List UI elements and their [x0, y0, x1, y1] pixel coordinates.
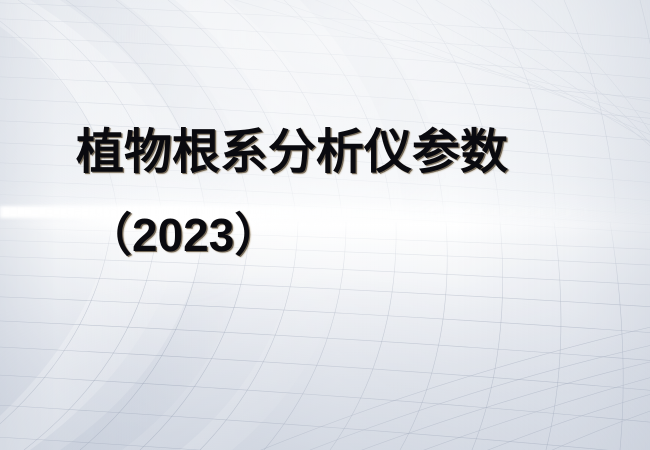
slide-title-block: 植物根系分析仪参数 （2023） [0, 0, 650, 450]
slide-title-line-1: 植物根系分析仪参数 [76, 124, 508, 182]
title-slide: 植物根系分析仪参数 （2023） [0, 0, 650, 450]
slide-title-line-2: （2023） [86, 206, 280, 264]
